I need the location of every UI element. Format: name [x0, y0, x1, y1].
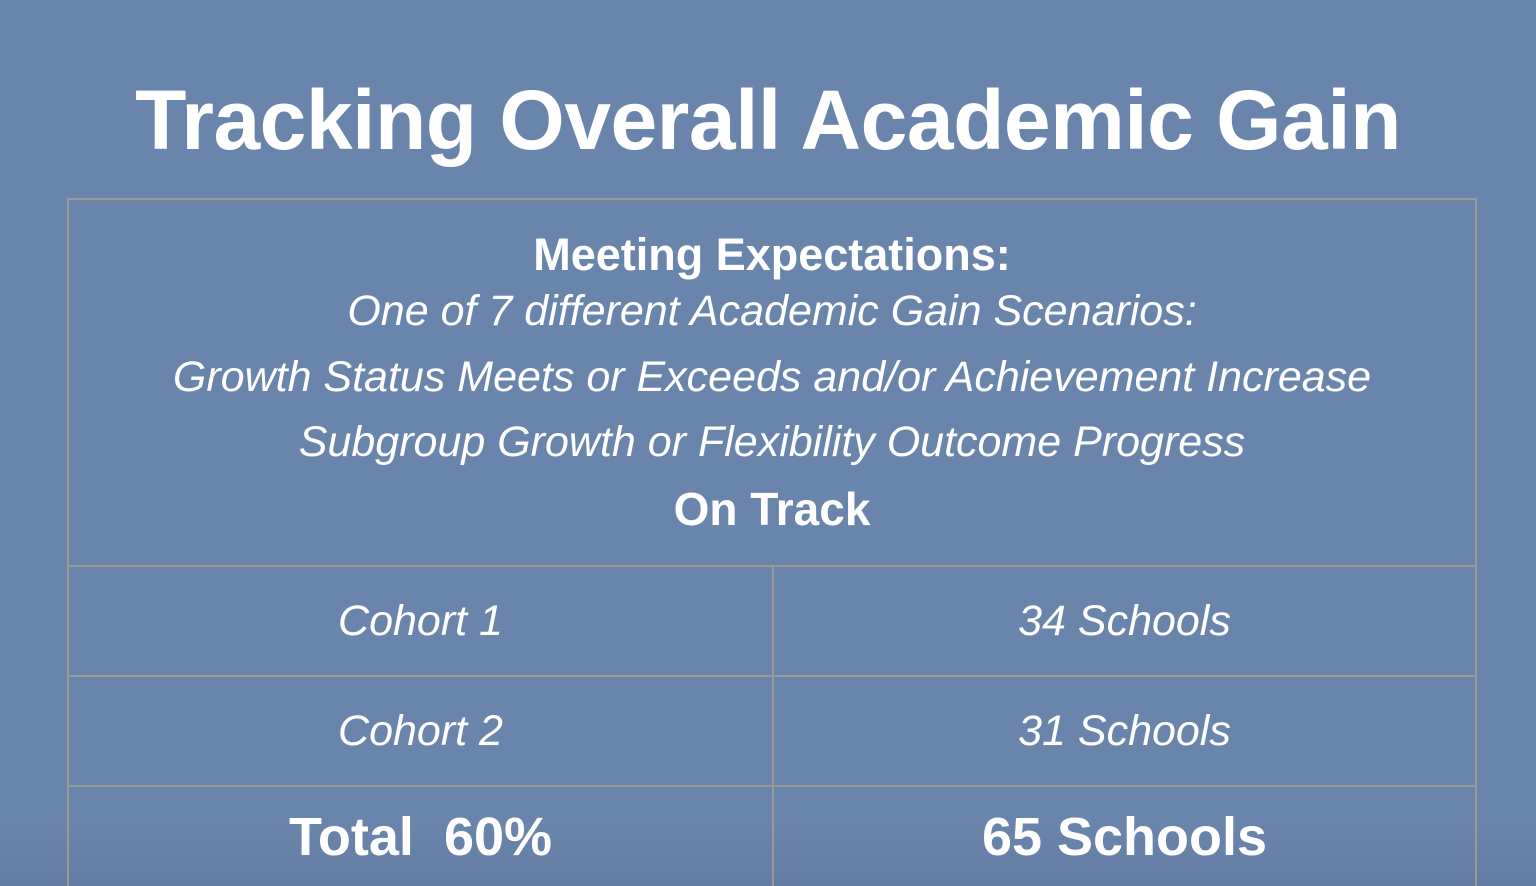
table-row: Cohort 2 31 Schools [68, 676, 1476, 786]
cohort-1-label-cell: Cohort 1 [68, 566, 773, 676]
cohort-1-value-cell: 34 Schools [773, 566, 1476, 676]
cohort-2-label-cell: Cohort 2 [68, 676, 773, 786]
table-header-row: Meeting Expectations: One of 7 different… [68, 199, 1476, 566]
meeting-expectations-heading: Meeting Expectations: [69, 231, 1475, 280]
scenarios-line-2: Growth Status Meets or Exceeds and/or Ac… [69, 345, 1475, 410]
total-value-cell: 65 Schools [773, 786, 1476, 886]
total-label-cell: Total 60% [68, 786, 773, 886]
cohort-2-value: 31 Schools [1018, 707, 1231, 755]
slide-canvas: Tracking Overall Academic Gain Meeting E… [0, 0, 1536, 886]
table-total-row: Total 60% 65 Schools [68, 786, 1476, 886]
meeting-expectations-cell: Meeting Expectations: One of 7 different… [68, 199, 1476, 566]
cohort-1-label: Cohort 1 [338, 597, 503, 645]
table-row: Cohort 1 34 Schools [68, 566, 1476, 676]
on-track-label: On Track [69, 484, 1475, 535]
cohort-1-value: 34 Schools [1018, 597, 1231, 645]
academic-gain-table: Meeting Expectations: One of 7 different… [67, 198, 1477, 886]
total-label: Total 60% [289, 807, 552, 867]
page-title: Tracking Overall Academic Gain [0, 78, 1536, 164]
cohort-2-label: Cohort 2 [338, 707, 503, 755]
scenarios-line-1: One of 7 different Academic Gain Scenari… [69, 279, 1475, 344]
scenarios-line-3: Subgroup Growth or Flexibility Outcome P… [69, 410, 1475, 475]
total-value: 65 Schools [982, 807, 1267, 867]
cohort-2-value-cell: 31 Schools [773, 676, 1476, 786]
